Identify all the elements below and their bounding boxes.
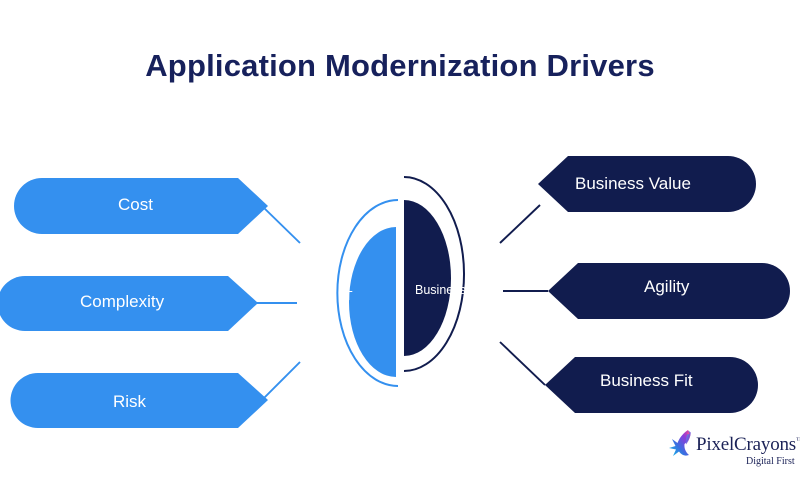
pixelcrayons-logo: PixelCrayons™ Digital First	[668, 426, 796, 474]
pill-risk[interactable]	[11, 373, 269, 428]
business-core-half	[404, 200, 451, 356]
it-connector-lines	[255, 206, 300, 400]
infographic-canvas: Application Modernization Drivers	[0, 0, 800, 487]
hummingbird-icon	[668, 428, 698, 462]
it-core-half	[349, 227, 396, 377]
pill-cost[interactable]	[14, 178, 268, 234]
connector-risk	[262, 362, 300, 400]
logo-wordmark: PixelCrayons™	[696, 434, 800, 456]
logo-name: PixelCrayons	[696, 434, 796, 455]
business-connector-lines	[500, 205, 548, 385]
pill-complexity[interactable]	[0, 276, 258, 331]
connector-cost	[262, 206, 300, 243]
connector-business-fit	[500, 342, 545, 385]
connector-business-value	[500, 205, 540, 243]
logo-tagline: Digital First	[746, 456, 795, 467]
pill-agility[interactable]	[548, 263, 790, 319]
pill-business-fit[interactable]	[545, 357, 758, 413]
pill-business-value[interactable]	[538, 156, 756, 212]
drivers-diagram	[0, 0, 800, 487]
logo-trademark: ™	[796, 436, 800, 445]
